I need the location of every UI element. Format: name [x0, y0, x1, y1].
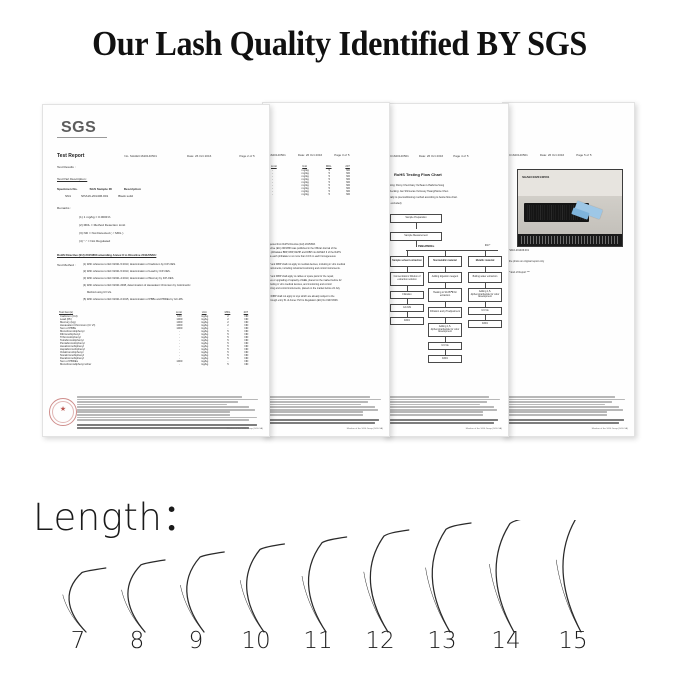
table-cell: -	[168, 363, 191, 366]
specimen-cell-1: SHA16-201406.001	[81, 194, 108, 198]
footer-line	[269, 404, 361, 406]
report-date-2: Date: 26 Oct 2016	[298, 153, 322, 157]
specimen-header-1: SGS Sample ID	[89, 187, 111, 191]
footer-line	[509, 404, 605, 406]
footer-text-block-2	[269, 396, 384, 424]
report-page-2[interactable]: C1620140501 Date: 26 Oct 2016 Page 3 of …	[262, 102, 390, 437]
sgs-logo-rule	[57, 137, 107, 138]
table-cell: mg/kg	[191, 363, 218, 366]
report-no-3: EC1620140501	[388, 154, 409, 158]
photo-caption-note: s the photo on original report only	[507, 260, 544, 263]
footer-line	[509, 399, 625, 401]
remark-0: (1) 1 mg/kg = 0.0001%	[79, 215, 110, 219]
flow-box: Filtration and pH adjustment	[428, 307, 462, 318]
length-number: 11	[303, 628, 332, 654]
length-number: 8	[130, 628, 145, 654]
footer-contact-line	[390, 422, 494, 424]
note-line: P and DIBP shall not apply to medical de…	[269, 263, 385, 266]
note-line: e phthalates BBP, DBP, DEHP and DIBP int…	[269, 251, 385, 254]
directive-heading: RoHS Directive (EU) 2015/863 amending An…	[57, 253, 156, 257]
lash-curve-group	[0, 520, 679, 635]
footer-note-3: Member of the SGS Group (SGS SA)	[466, 428, 502, 430]
end-of-report-mark: *** End of Report ***	[507, 271, 530, 274]
footer-line	[390, 414, 483, 416]
report-pageno-4: Page 5 of 5	[576, 153, 591, 157]
flow-box: Sample Preparation	[390, 214, 442, 223]
footer-line	[390, 411, 483, 413]
report-pageno-2: Page 3 of 5	[334, 153, 349, 157]
table-cell: 5	[319, 193, 339, 196]
footer-text-block-4	[509, 396, 629, 424]
footer-line	[77, 417, 257, 419]
remarks-heading: Remarks :	[57, 206, 71, 210]
remark-2: (3) ND = Not Detected ( < MDL )	[79, 231, 123, 235]
report-no-1: No. SHAEC1620140501	[124, 154, 157, 158]
footer-line	[390, 399, 500, 401]
length-number: 12	[365, 628, 394, 654]
length-number-row: 789101112131415	[0, 628, 679, 662]
flow-box: GC-MS	[390, 304, 424, 312]
lash-tip	[364, 572, 388, 632]
photo-overlay-id: SHAEC1620140501	[522, 175, 549, 179]
footer-contact-line	[269, 419, 379, 421]
credit-2: totally to preconditioning method accord…	[388, 196, 458, 199]
footer-line	[77, 401, 238, 403]
flow-box: Nonmetallic material	[428, 256, 462, 267]
lash-tip	[302, 576, 326, 632]
flow-box: Metallic material	[468, 256, 502, 267]
lash-curve	[247, 544, 285, 632]
footer-line	[269, 406, 375, 408]
note-line: quoted from RoHS Directive (EU) 2015/863…	[269, 243, 385, 246]
page-footer-3: Member of the SGS Group (SGS SA)	[384, 396, 508, 430]
footer-line	[77, 404, 227, 406]
footer-contact-line	[390, 419, 498, 421]
results-table-2: LimitUnitMDL207-mg/kg5ND-mg/kg5ND-mg/kg5…	[271, 165, 357, 196]
note-line: toring and control instruments, placed o…	[269, 287, 385, 290]
ruler-ticks	[521, 236, 619, 244]
method-4: Method using UV-Vis.	[87, 291, 112, 294]
credit-3: al excluded)	[388, 202, 401, 205]
specimen-header-2: Description	[124, 187, 141, 191]
report-no-4: EC1620140501	[507, 153, 528, 157]
flow-box: Sample Measurement	[390, 232, 442, 241]
note-line: ties or upgrading of capacity of EEE, pl…	[269, 279, 385, 282]
flow-box: Filtration	[390, 291, 424, 299]
lash-curve	[496, 520, 535, 632]
lash-tip	[180, 585, 204, 632]
report-pageno-3: Page 4 of 5	[453, 154, 468, 158]
report-title-1: Test Report	[57, 153, 84, 159]
footer-line	[77, 419, 249, 421]
footer-line	[390, 396, 489, 398]
footer-contact-line	[77, 424, 257, 426]
report-page-1[interactable]: SGS Test Report No. SHAEC1620140501 Date…	[42, 104, 270, 437]
lash-tip	[426, 568, 450, 632]
footer-line	[269, 399, 381, 401]
photo-caption-id: SHA16-201406.001	[507, 249, 529, 252]
table-cell: 5	[218, 363, 238, 366]
lash-tip	[63, 595, 86, 632]
method-1: (2) With reference to IEC 62321-5:2013, …	[83, 270, 171, 273]
branch-label-cr6: Cr⁶⁺	[485, 244, 490, 247]
footer-line	[509, 411, 607, 413]
footer-line	[509, 409, 623, 411]
lash-curve	[432, 523, 471, 632]
flow-connector	[416, 223, 417, 229]
flow-box: Boiling water extraction	[468, 272, 502, 283]
footer-contact-line	[269, 422, 375, 424]
footer-line	[509, 414, 607, 416]
flow-box: UV-Vis	[428, 342, 462, 350]
table-cell: Monobromodiphenyl ether	[59, 363, 168, 366]
footer-contact-line	[509, 419, 624, 421]
flow-box: DATA	[390, 317, 424, 325]
page-footer-1: ★ Member of the SGS Group (SGS SA)	[43, 396, 269, 430]
star-icon: ★	[60, 406, 66, 413]
flow-box: DATA	[468, 320, 502, 328]
footer-line	[269, 414, 363, 416]
flow-box: Adding digestion reagent	[428, 272, 462, 283]
flow-box: Heating to 90-95℃ for extraction	[428, 288, 462, 302]
lash-curve	[128, 560, 165, 632]
length-number: 9	[189, 628, 204, 654]
table-cell: ND	[238, 363, 255, 366]
report-page-4[interactable]: EC1620140501 Date: 26 Oct 2016 Page 5 of…	[502, 102, 635, 437]
method-2: (3) With reference to IEC 62321-4:2013, …	[83, 277, 174, 280]
method-5: (5) With reference to IEC 62321-6:2015, …	[83, 298, 183, 301]
note-line: through entry 51 of Annex XVII to Regula…	[269, 299, 385, 302]
footer-line	[509, 401, 612, 403]
results-heading: Test Results :	[57, 165, 76, 169]
product-listing-image: Our Lash Quality Identified BY SGS SGS T…	[0, 0, 679, 679]
note-line: P and DIBP shall apply to cables or spar…	[269, 275, 385, 278]
method-0: (1) With reference to IEC 62321-5:2013, …	[83, 263, 176, 266]
page-footer-4: Member of the SGS Group (SGS SA)	[503, 396, 634, 430]
footer-note-2: Member of the SGS Group (SGS SA)	[347, 428, 383, 430]
specimen-header-0: Specimen No.	[57, 187, 77, 191]
footer-line	[77, 414, 230, 416]
note-line: d DIBP shall not apply to toys which are…	[269, 295, 385, 298]
lash-tip	[122, 590, 145, 632]
footer-text-block-3	[390, 396, 503, 424]
footer-note-4: Member of the SGS Group (SGS SA)	[592, 428, 628, 430]
footer-note-1: Member of the SGS Group (SGS SA)	[227, 428, 263, 430]
method-heading: Test Method :	[57, 263, 76, 267]
footer-line	[390, 401, 487, 403]
part-description-heading: Test Part Description :	[57, 177, 87, 181]
table-cell: mg/kg	[291, 193, 319, 196]
flow-chart-title: RoHS Testing Flow Chart	[394, 172, 442, 177]
footer-text-block-1	[77, 396, 264, 430]
flow-box: Concentration/ Dilution of extraction so…	[390, 272, 424, 286]
sample-photo: SHAEC1620140501	[517, 169, 623, 247]
footer-line	[509, 406, 619, 408]
note-line: instruments, including industrial monito…	[269, 267, 385, 270]
remark-3: (4) "-" = Not Regulated	[79, 239, 110, 243]
branch-label-pbb: PBBs/PBDEs	[418, 245, 434, 248]
lash-curve	[309, 537, 347, 632]
remark-1: (2) MDL = Method Detection Limit	[79, 223, 125, 227]
sgs-report-pages: SGS Test Report No. SHAEC1620140501 Date…	[0, 100, 679, 445]
lash-curve	[563, 520, 602, 632]
table-cell: ND	[339, 193, 357, 196]
results-table: Test Item(s)LimitUnitMDL207Cadmium (Cd)1…	[59, 311, 255, 366]
official-seal-stamp: ★	[49, 398, 77, 426]
lash-tip	[240, 580, 264, 632]
lash-tip	[556, 560, 581, 632]
specimen-cell-2: Black solid	[118, 194, 133, 198]
note-line: cluding in vitro medical devices, and mo…	[269, 283, 385, 286]
length-number: 13	[427, 628, 456, 654]
footer-line	[390, 404, 480, 406]
report-date-1: Date: 26 Oct 2016	[187, 154, 211, 158]
credit-0: esting: Romy Chen/Gary Xu/Sean Li/Sabrin…	[388, 184, 444, 187]
table-row: -mg/kg5ND	[271, 193, 357, 196]
flow-box: UV-Vis	[468, 307, 502, 315]
credit-1: Checking: Jan Shi/Lucas Xu/Jessy Huang/S…	[388, 190, 448, 193]
table-cell: -	[271, 193, 291, 196]
footer-line	[269, 409, 378, 411]
footer-contact-line	[77, 427, 249, 429]
directive-notes: quoted from RoHS Directive (EU) 2015/863…	[269, 243, 385, 307]
length-number: 10	[241, 628, 270, 654]
method-3: (4) With reference to IEC 62321:2008, de…	[83, 284, 191, 287]
ruler	[518, 234, 622, 246]
footer-contact-line	[509, 422, 619, 424]
table-row: Monobromodiphenyl ether-mg/kg5ND	[59, 363, 255, 366]
lash-curve	[370, 530, 408, 632]
footer-line	[509, 396, 615, 398]
flow-connector	[416, 241, 417, 247]
footer-line	[77, 399, 258, 401]
note-line: ective (EU) 2015/863 was published in th…	[269, 247, 385, 250]
footer-line	[269, 401, 368, 403]
footer-line	[390, 406, 494, 408]
lash-tip	[489, 564, 514, 632]
length-number: 15	[558, 628, 587, 654]
flow-box: Adding 1,5-diphenylcarbazide for color d…	[468, 288, 502, 302]
flow-box: Sample solvent extraction	[390, 256, 424, 267]
footer-line	[269, 396, 370, 398]
footer-line	[390, 409, 497, 411]
specimen-cell-0: SN1	[65, 194, 71, 198]
footer-line	[77, 409, 255, 411]
length-number: 14	[491, 628, 520, 654]
flow-box: DATA	[428, 355, 462, 363]
footer-line	[269, 411, 363, 413]
footer-line	[77, 406, 249, 408]
footer-line	[77, 396, 242, 398]
page-footer-2: Member of the SGS Group (SGS SA)	[263, 396, 389, 430]
report-pageno-1: Page 2 of 5	[239, 154, 254, 158]
report-date-3: Date: 26 Oct 2016	[419, 154, 443, 158]
lash-curve	[69, 568, 106, 632]
sgs-logo: SGS	[61, 119, 96, 137]
report-date-4: Date: 26 Oct 2016	[540, 153, 564, 157]
page-title: Our Lash Quality Identified BY SGS	[27, 24, 652, 64]
flow-box: Adding 1,5-diphenylcarbazide for color d…	[428, 323, 462, 337]
length-number: 7	[71, 628, 86, 654]
footer-line	[77, 411, 230, 413]
lash-curve	[187, 552, 224, 632]
note-line: de each phthalate to no more than 0.1% i…	[269, 255, 385, 258]
report-page-3[interactable]: EC1620140501 Date: 26 Oct 2016 Page 4 of…	[383, 103, 509, 437]
